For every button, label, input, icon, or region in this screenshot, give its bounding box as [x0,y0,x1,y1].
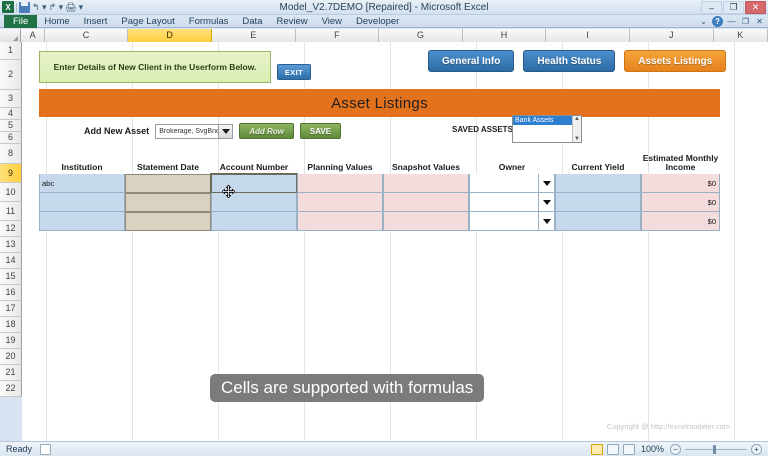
scroll-down-icon[interactable]: ▼ [574,136,580,142]
row-header-22[interactable]: 22 [0,381,22,397]
cell-planning-values[interactable] [297,193,383,212]
column-estimated-monthly-income: Estimated Monthly Income [641,154,720,174]
expand-ribbon-icon[interactable]: ⌄ [698,16,709,27]
tab-insert[interactable]: Insert [77,15,115,28]
normal-view-button[interactable] [591,444,603,455]
row-header-1[interactable]: 1 [0,42,22,60]
cell-current-yield[interactable] [555,174,641,193]
worksheet-area[interactable]: Enter Details of New Client in the Userf… [22,42,768,441]
table-row[interactable]: $0 [39,193,720,212]
column-account-number: Account Number [211,163,297,174]
cell-current-yield[interactable] [555,193,641,212]
chevron-down-icon[interactable] [218,125,232,138]
cell-statement-date[interactable] [125,212,211,231]
column-planning-values: Planning Values [297,163,383,174]
status-bar-right[interactable]: 100% − + [591,444,768,455]
cell-snapshot-values[interactable] [383,212,469,231]
zoom-slider-thumb[interactable] [713,445,716,454]
row-header-8[interactable]: 8 [0,144,22,164]
chevron-down-icon[interactable] [538,193,554,211]
cell-statement-date[interactable] [125,174,211,193]
row-header-17[interactable]: 17 [0,301,22,317]
add-new-asset-label: Add New Asset [84,126,149,136]
column-snapshot-values: Snapshot Values [383,163,469,174]
cell-snapshot-values[interactable] [383,174,469,193]
cell-estimated-monthly-income[interactable]: $0 [641,174,720,193]
column-header-D[interactable]: D [128,29,212,42]
row-header-10[interactable]: 10 [0,183,22,202]
column-header-F[interactable]: F [296,29,380,42]
tab-data[interactable]: Data [235,15,269,28]
cell-planning-values[interactable] [297,212,383,231]
gridline [734,42,735,441]
row-header-11[interactable]: 11 [0,202,22,221]
row-headers[interactable]: 1 2 3 4 5 6 8 9 10 11 12 13 14 15 16 17 … [0,42,22,397]
general-info-button[interactable]: General Info [428,50,514,72]
add-asset-controls[interactable]: Add New Asset Brokerage, SvgBnds Add Row… [84,123,341,139]
tab-developer[interactable]: Developer [349,15,406,28]
zoom-in-button[interactable]: + [751,444,762,455]
select-all-corner[interactable] [0,29,21,42]
listbox-items[interactable]: Bank Assets [513,116,572,142]
column-header-C[interactable]: C [45,29,129,42]
navigation-buttons[interactable]: General Info Health Status Assets Listin… [428,50,726,72]
section-header-band: Asset Listings [39,89,720,117]
assets-table: Institution Statement Date Account Numbe… [39,152,720,231]
table-row[interactable]: $0 [39,212,720,231]
excel-window: X ↰ ▾ ↱ ▾ 🖨 ▾ Model_V2.7DEMO [Repaired] … [0,0,768,456]
cell-planning-values[interactable] [297,174,383,193]
cell-owner[interactable] [469,193,555,212]
window-title: Model_V2.7DEMO [Repaired] - Microsoft Ex… [0,0,768,15]
row-header-12[interactable]: 12 [0,221,22,237]
ribbon-right-icons[interactable]: ⌄ ? — ❐ ✕ [698,16,765,27]
tab-formulas[interactable]: Formulas [182,15,236,28]
page-title: Asset Listings [331,95,428,112]
column-current-yield: Current Yield [555,163,641,174]
window-controls[interactable]: – ❐ ✕ [701,1,766,14]
row-header-15[interactable]: 15 [0,269,22,285]
restore-button[interactable]: ❐ [723,1,744,14]
column-header-K[interactable]: K [714,29,768,42]
table-header-row: Institution Statement Date Account Numbe… [39,152,720,174]
tab-file[interactable]: File [4,15,37,28]
scroll-up-icon[interactable]: ▲ [574,116,580,122]
help-icon[interactable]: ? [712,16,723,27]
minimize-ribbon-icon[interactable]: — [726,16,737,27]
move-cursor-icon [222,185,235,198]
add-row-button[interactable]: Add Row [239,123,294,139]
macro-record-icon[interactable] [40,444,51,455]
row-header-21[interactable]: 21 [0,365,22,381]
list-item[interactable]: Bank Assets [513,116,572,125]
column-institution: Institution [39,163,125,174]
column-headers[interactable]: A C D E F G H I J K [0,29,768,42]
copyright-text: Copyright @ http://excelmodeler.com [607,422,730,431]
cell-owner[interactable] [469,174,555,193]
cell-snapshot-values[interactable] [383,193,469,212]
cell-current-yield[interactable] [555,212,641,231]
row-header-9[interactable]: 9 [0,164,22,183]
chevron-down-icon[interactable] [538,212,554,230]
instruction-banner: Enter Details of New Client in the Userf… [39,51,271,83]
status-text: Ready [0,444,32,454]
row-header-3[interactable]: 3 [0,90,22,108]
health-status-button[interactable]: Health Status [523,50,615,72]
row-header-16[interactable]: 16 [0,285,22,301]
row-header-14[interactable]: 14 [0,253,22,269]
saved-assets-listbox[interactable]: Bank Assets ▲ ▼ [512,115,582,143]
row-header-18[interactable]: 18 [0,317,22,333]
minimize-button[interactable]: – [701,1,722,14]
column-header-J[interactable]: J [630,29,714,42]
zoom-level[interactable]: 100% [641,444,664,454]
column-header-A[interactable]: A [21,29,44,42]
tab-home[interactable]: Home [37,15,76,28]
tab-view[interactable]: View [315,15,349,28]
tab-page-layout[interactable]: Page Layout [114,15,181,28]
row-header-6[interactable]: 6 [0,132,22,144]
cell-institution[interactable] [39,193,125,212]
cell-estimated-monthly-income[interactable]: $0 [641,212,720,231]
cell-institution[interactable] [39,212,125,231]
page-layout-view-button[interactable] [607,444,619,455]
cell-owner[interactable] [469,212,555,231]
status-bar: Ready 100% − + [0,441,768,456]
asset-type-value: Brokerage, SvgBnds [156,128,223,135]
overlay-caption: Cells are supported with formulas [210,374,484,402]
cell-institution[interactable]: abc [39,174,125,193]
ribbon-tabs: File Home Insert Page Layout Formulas Da… [0,15,768,28]
row-header-13[interactable]: 13 [0,237,22,253]
zoom-out-button[interactable]: − [670,444,681,455]
row-header-5[interactable]: 5 [0,120,22,132]
zoom-slider[interactable] [685,449,747,450]
row-header-4[interactable]: 4 [0,108,22,120]
cell-statement-date[interactable] [125,193,211,212]
tab-list[interactable]: File Home Insert Page Layout Formulas Da… [0,15,768,28]
row-header-19[interactable]: 19 [0,333,22,349]
row-header-2[interactable]: 2 [0,60,22,90]
asset-type-dropdown[interactable]: Brokerage, SvgBnds [155,124,233,139]
table-row[interactable]: abc $0 [39,174,720,193]
listbox-scrollbar[interactable]: ▲ ▼ [572,116,581,142]
column-header-G[interactable]: G [379,29,463,42]
column-header-I[interactable]: I [546,29,630,42]
tab-review[interactable]: Review [269,15,314,28]
cell-account-number[interactable] [211,212,297,231]
restore-ribbon-icon[interactable]: ❐ [740,16,751,27]
header-line-2: Income [641,163,720,172]
column-header-H[interactable]: H [463,29,547,42]
title-bar: X ↰ ▾ ↱ ▾ 🖨 ▾ Model_V2.7DEMO [Repaired] … [0,0,768,15]
assets-listings-button[interactable]: Assets Listings [624,50,726,72]
exit-button[interactable]: EXIT [277,64,311,80]
cell-estimated-monthly-income[interactable]: $0 [641,193,720,212]
column-owner: Owner [469,163,555,174]
saved-assets-label: SAVED ASSETS [452,125,513,134]
chevron-down-icon[interactable] [538,174,554,192]
row-header-20[interactable]: 20 [0,349,22,365]
column-header-E[interactable]: E [212,29,296,42]
close-button[interactable]: ✕ [745,1,766,14]
close-ribbon-icon[interactable]: ✕ [754,16,765,27]
save-button[interactable]: SAVE [300,123,341,139]
column-statement-date: Statement Date [125,163,211,174]
page-break-view-button[interactable] [623,444,635,455]
